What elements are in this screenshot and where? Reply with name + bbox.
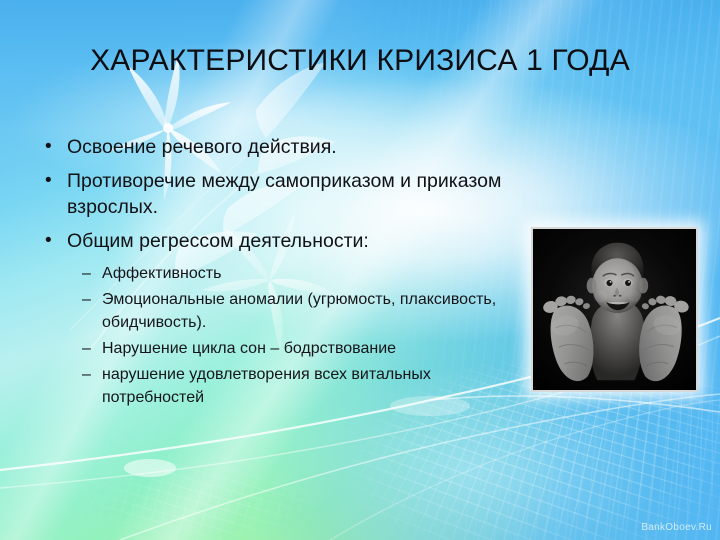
watermark-text: BankOboev.Ru: [641, 522, 712, 533]
bullet-item: • Освоение речевого действия.: [34, 134, 534, 160]
bullet-marker-icon: •: [34, 134, 67, 160]
sub-bullet-item: – Аффективность: [69, 262, 524, 285]
dash-marker-icon: –: [69, 288, 102, 311]
bullet-item: • Противоречие между самоприказом и прик…: [34, 168, 534, 220]
bullet-marker-icon: •: [34, 168, 67, 194]
baby-feet-photo: [531, 227, 698, 392]
background-mesh-left: [0, 430, 330, 540]
bullet-text: Общим регрессом деятельности:: [67, 228, 534, 254]
sub-bullet-item: – нарушение удовлетворения всех витальны…: [69, 363, 524, 409]
bullet-item: • Общим регрессом деятельности:: [34, 228, 534, 254]
sub-bullet-item: – Нарушение цикла сон – бодрствование: [69, 337, 524, 360]
sub-bullet-text: Нарушение цикла сон – бодрствование: [102, 337, 524, 360]
slide-body-list: • Освоение речевого действия. • Противор…: [34, 134, 534, 412]
presentation-slide: ХАРАКТЕРИСТИКИ КРИЗИСА 1 ГОДА • Освоение…: [0, 0, 720, 540]
slide-title: ХАРАКТЕРИСТИКИ КРИЗИСА 1 ГОДА: [0, 44, 720, 78]
baby-feet-photo-graphic: [533, 229, 696, 390]
photo-frame: [531, 227, 698, 392]
sub-bullet-group: – Аффективность – Эмоциональные аномалии…: [69, 262, 524, 409]
dash-marker-icon: –: [69, 262, 102, 285]
bullet-text: Противоречие между самоприказом и приказ…: [67, 168, 534, 220]
dash-marker-icon: –: [69, 337, 102, 360]
sub-bullet-text: нарушение удовлетворения всех витальных …: [102, 363, 524, 409]
sub-bullet-text: Эмоциональные аномалии (угрюмость, плакс…: [102, 288, 524, 334]
dash-marker-icon: –: [69, 363, 102, 386]
bullet-text: Освоение речевого действия.: [67, 134, 534, 160]
sub-bullet-text: Аффективность: [102, 262, 524, 285]
sub-bullet-item: – Эмоциональные аномалии (угрюмость, пла…: [69, 288, 524, 334]
bullet-marker-icon: •: [34, 228, 67, 254]
